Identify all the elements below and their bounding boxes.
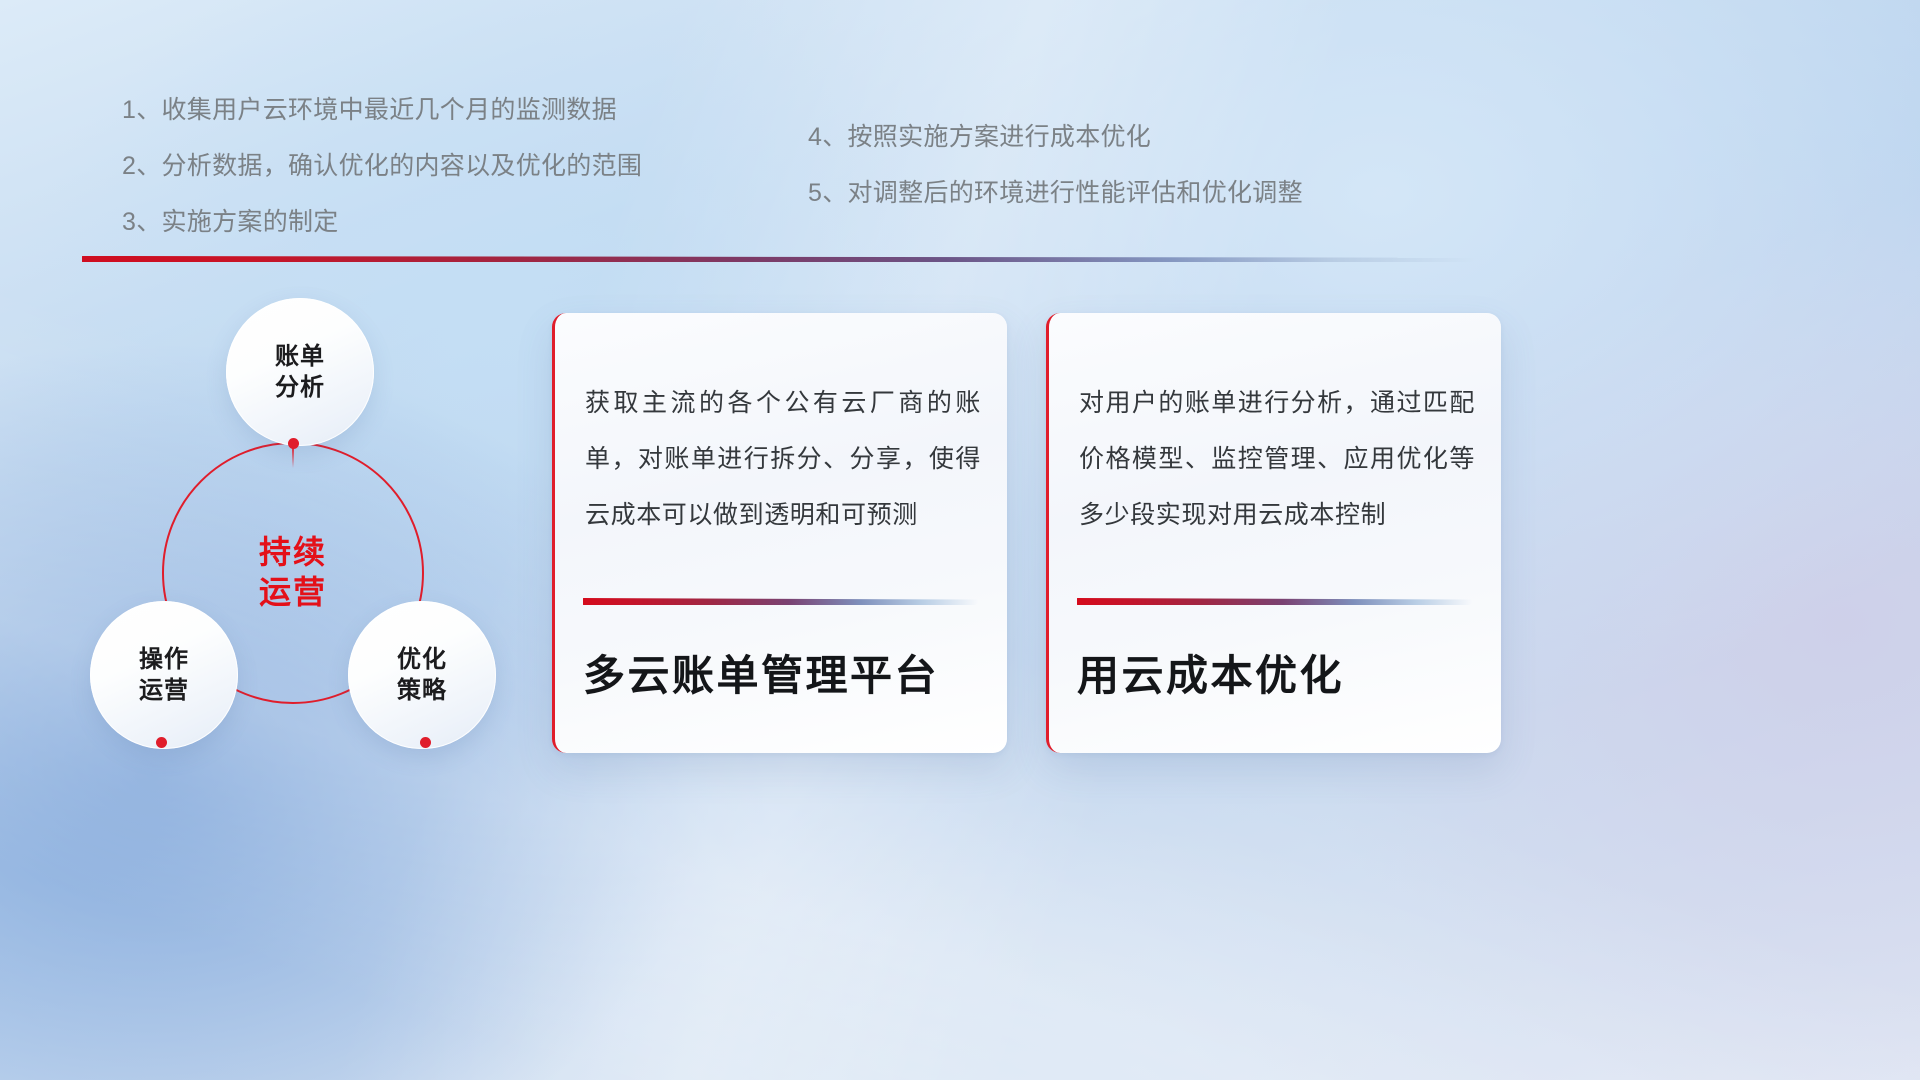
- venn-node-label-line-2: 策略: [397, 675, 447, 706]
- process-list-right: 4、按照实施方案进行成本优化 5、对调整后的环境进行性能评估和优化调整: [808, 125, 1303, 206]
- feature-card-divider: [583, 598, 978, 605]
- process-list-item: 5、对调整后的环境进行性能评估和优化调整: [808, 181, 1303, 206]
- feature-card-title: 用云成本优化: [1077, 651, 1344, 701]
- venn-node-label-line-1: 账单: [275, 341, 325, 372]
- feature-card-cost-optimization[interactable]: 对用户的账单进行分析，通过匹配价格模型、监控管理、应用优化等多少段实现对用云成本…: [1046, 313, 1501, 753]
- feature-card-body: 获取主流的各个公有云厂商的账单，对账单进行拆分、分享，使得云成本可以做到透明和可…: [585, 375, 981, 543]
- feature-card-title: 多云账单管理平台: [583, 651, 939, 701]
- venn-node-optimization-strategy[interactable]: 优化 策略: [348, 601, 496, 749]
- process-list-item: 3、实施方案的制定: [122, 210, 642, 235]
- venn-node-label-line-2: 分析: [275, 372, 325, 403]
- feature-card-multicloud-billing[interactable]: 获取主流的各个公有云厂商的账单，对账单进行拆分、分享，使得云成本可以做到透明和可…: [552, 313, 1007, 753]
- venn-junction-dot-bottom-left: [156, 737, 167, 748]
- venn-node-billing-analysis[interactable]: 账单 分析: [226, 298, 374, 446]
- feature-card-divider: [1077, 598, 1472, 605]
- venn-node-label-line-1: 操作: [139, 644, 189, 675]
- process-list-left: 1、收集用户云环境中最近几个月的监测数据 2、分析数据，确认优化的内容以及优化的…: [122, 98, 642, 235]
- venn-connector-tick: [292, 446, 294, 468]
- venn-node-operations[interactable]: 操作 运营: [90, 601, 238, 749]
- venn-junction-dot-top: [288, 438, 299, 449]
- process-list-item: 1、收集用户云环境中最近几个月的监测数据: [122, 98, 642, 123]
- section-divider-gradient: [82, 256, 1474, 262]
- process-list-item: 2、分析数据，确认优化的内容以及优化的范围: [122, 154, 642, 179]
- venn-junction-dot-bottom-right: [420, 737, 431, 748]
- slide-stage: 1、收集用户云环境中最近几个月的监测数据 2、分析数据，确认优化的内容以及优化的…: [0, 0, 1540, 890]
- venn-diagram: 持续 运营 账单 分析 操作 运营 优化 策略: [80, 290, 550, 770]
- venn-node-label-line-2: 运营: [139, 675, 189, 706]
- feature-card-body: 对用户的账单进行分析，通过匹配价格模型、监控管理、应用优化等多少段实现对用云成本…: [1079, 375, 1475, 543]
- venn-node-label-line-1: 优化: [397, 644, 447, 675]
- process-list-item: 4、按照实施方案进行成本优化: [808, 125, 1303, 150]
